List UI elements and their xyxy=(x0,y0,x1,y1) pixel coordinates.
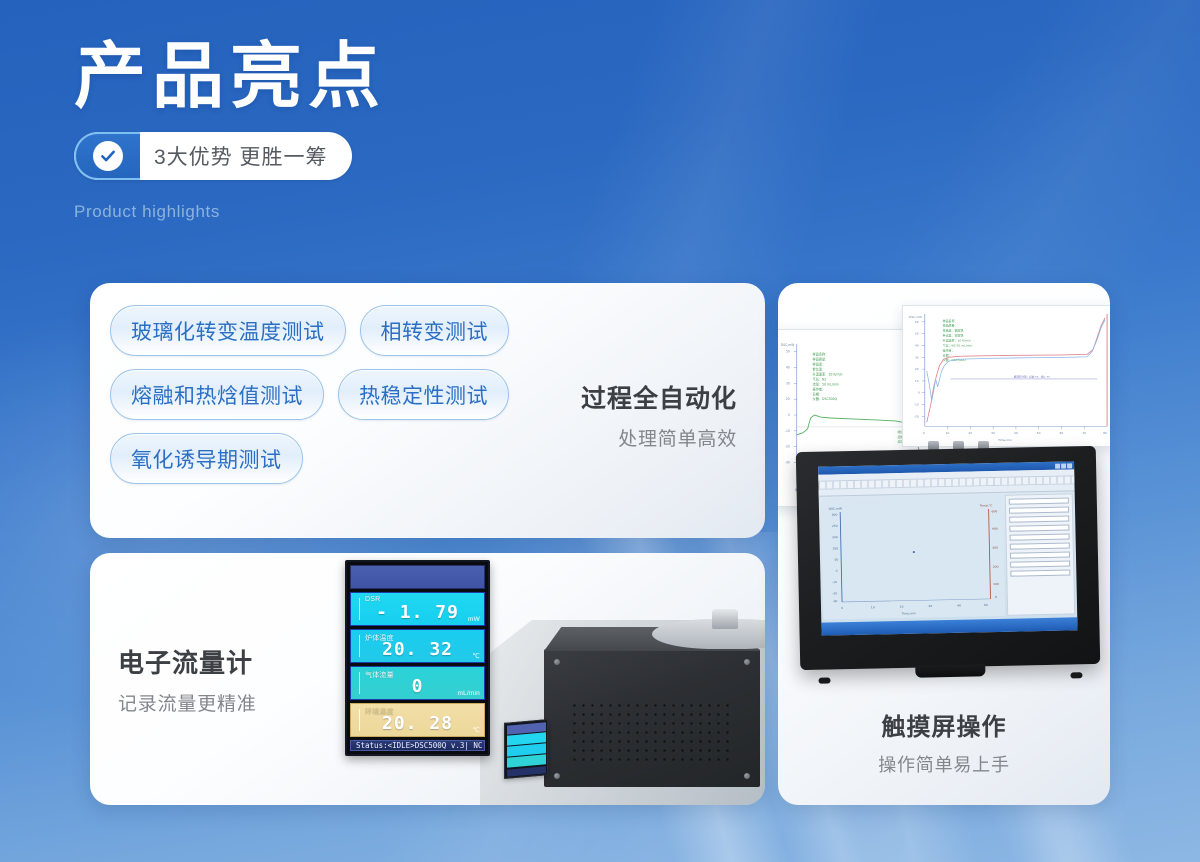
svg-text:100: 100 xyxy=(993,582,999,586)
svg-text:40: 40 xyxy=(1014,431,1018,435)
svg-text:样品名称：: 样品名称： xyxy=(813,352,829,357)
parameter-field[interactable] xyxy=(1009,506,1069,513)
page-subtitle-en: Product highlights xyxy=(74,202,386,222)
feature-tag[interactable]: 热稳定性测试 xyxy=(338,369,509,420)
svg-text:200: 200 xyxy=(832,535,838,539)
parameter-field[interactable] xyxy=(1009,515,1069,522)
flow-caption-sub: 记录流量更精准 xyxy=(118,689,257,716)
svg-text:20: 20 xyxy=(968,431,972,435)
instrument-vent-grid xyxy=(570,701,732,763)
svg-text:40: 40 xyxy=(957,604,961,608)
parameter-field[interactable] xyxy=(1010,542,1070,549)
touch-caption-title: 触摸屏操作 xyxy=(778,707,1110,742)
parameter-field[interactable] xyxy=(1010,533,1070,540)
svg-text:60: 60 xyxy=(915,320,919,324)
close-icon[interactable] xyxy=(1067,463,1072,468)
svg-text:日期：: 日期： xyxy=(813,391,822,396)
svg-text:40: 40 xyxy=(786,366,790,370)
svg-text:DSC,mW: DSC,mW xyxy=(781,343,794,347)
check-circle-icon xyxy=(93,141,123,171)
svg-text:Temp,℃: Temp,℃ xyxy=(979,503,993,507)
parameter-field[interactable] xyxy=(1010,551,1070,558)
svg-text:0: 0 xyxy=(836,569,838,573)
parameter-field[interactable] xyxy=(1010,569,1070,576)
svg-text:30: 30 xyxy=(915,355,919,359)
svg-text:Time,min: Time,min xyxy=(997,438,1012,442)
svg-text:-30: -30 xyxy=(832,599,837,603)
feature-tag-row: 玻璃化转变温度测试 相转变测试 xyxy=(110,305,562,356)
svg-text:20: 20 xyxy=(915,367,919,371)
monitor-foot xyxy=(1070,672,1082,678)
lcd-label: 炉体温度 xyxy=(365,633,394,643)
lcd-unit: mL/min xyxy=(457,690,480,697)
monitor-screen[interactable]: DSC,mW 300250200 150500 -10-20-30 01020 … xyxy=(818,461,1077,635)
instrument-front-display xyxy=(504,719,548,779)
svg-text:0: 0 xyxy=(788,413,790,417)
svg-text:50: 50 xyxy=(915,332,919,336)
flow-meter-lcd: DSR - 1. 79 mW 炉体温度 20. 32 ℃ 气体流量 0 mL/m… xyxy=(345,560,490,756)
svg-text:参比皿：空坩埚: 参比皿：空坩埚 xyxy=(943,333,964,338)
flow-caption-title: 电子流量计 xyxy=(118,643,257,680)
features-caption-sub: 处理简单高效 xyxy=(581,424,737,451)
lcd-value: - 1. 79 xyxy=(355,602,480,623)
svg-text:DSC,mW: DSC,mW xyxy=(829,507,843,511)
svg-text:气氛：N2 50 mL/min: 气氛：N2 50 mL/min xyxy=(943,342,973,347)
svg-text:0: 0 xyxy=(918,391,920,395)
lcd-tick xyxy=(359,635,360,657)
svg-text:参比皿：: 参比皿： xyxy=(813,367,826,372)
svg-text:10: 10 xyxy=(871,605,875,609)
feature-tag-row: 氧化诱导期测试 xyxy=(110,433,562,484)
dsc-curve-screenshot-right: DSC,mW 605040 302010 0-10-20 01020 30405… xyxy=(902,305,1110,447)
lcd-status-bar: Status:<IDLE>DSC500Q v.3| NC xyxy=(350,740,485,751)
svg-text:30: 30 xyxy=(928,604,932,608)
svg-text:150: 150 xyxy=(832,546,838,550)
features-card: 玻璃化转变温度测试 相转变测试 熔融和热焓值测试 热稳定性测试 氧化诱导期测试 … xyxy=(90,283,765,538)
svg-text:-30: -30 xyxy=(785,460,790,464)
svg-text:DSC,mW: DSC,mW xyxy=(909,315,922,319)
svg-text:50: 50 xyxy=(834,558,838,562)
svg-text:80: 80 xyxy=(1103,431,1107,435)
svg-text:-20: -20 xyxy=(785,445,790,449)
svg-text:30: 30 xyxy=(786,381,790,385)
instrument-screw xyxy=(744,659,750,665)
svg-text:0: 0 xyxy=(995,595,997,599)
svg-text:样品质量：: 样品质量： xyxy=(813,357,829,362)
feature-tag[interactable]: 玻璃化转变温度测试 xyxy=(110,305,346,356)
svg-text:40: 40 xyxy=(915,343,919,347)
page-header: 产品亮点 3大优势 更胜一筹 Product highlights xyxy=(74,40,386,222)
lcd-tick xyxy=(359,709,360,731)
instrument-knob xyxy=(712,609,738,629)
features-caption-title: 过程全自动化 xyxy=(581,379,737,415)
instrument-screw xyxy=(554,773,560,779)
svg-text:0: 0 xyxy=(923,431,925,435)
lcd-row-furnace-temp: 炉体温度 20. 32 ℃ xyxy=(350,629,485,663)
lcd-label: 气体流量 xyxy=(365,670,394,680)
svg-text:300: 300 xyxy=(832,513,838,517)
svg-text:样品皿：: 样品皿： xyxy=(813,362,826,367)
svg-text:250: 250 xyxy=(832,524,838,528)
svg-text:-20: -20 xyxy=(914,414,919,418)
minimize-icon[interactable] xyxy=(1055,463,1060,468)
svg-text:操作者：: 操作者： xyxy=(813,386,826,391)
svg-text:20: 20 xyxy=(900,605,904,609)
svg-text:仪器：DSC500Q: 仪器：DSC500Q xyxy=(813,397,838,401)
lcd-unit: mW xyxy=(468,616,480,623)
lcd-row-dsr: DSR - 1. 79 mW xyxy=(350,592,485,626)
maximize-icon[interactable] xyxy=(1061,463,1066,468)
lcd-row-ambient-temp: 环境温度 20. 28 ℃ xyxy=(350,703,485,737)
svg-text:升温速率：10 K/min: 升温速率：10 K/min xyxy=(813,371,843,376)
lcd-unit: ℃ xyxy=(473,652,481,660)
svg-text:操作者：: 操作者： xyxy=(943,347,955,352)
touch-caption: 触摸屏操作 操作简单易上手 xyxy=(778,707,1110,777)
flow-meter-card: 电子流量计 记录流量更精准 DSR - 1. 79 mW xyxy=(90,553,765,805)
feature-tag[interactable]: 氧化诱导期测试 xyxy=(110,433,303,484)
svg-text:10: 10 xyxy=(915,379,919,383)
svg-text:Time,min: Time,min xyxy=(901,611,916,615)
svg-text:50: 50 xyxy=(786,350,790,354)
feature-tag[interactable]: 相转变测试 xyxy=(360,305,510,356)
feature-tag[interactable]: 熔融和热焓值测试 xyxy=(110,369,324,420)
lcd-header xyxy=(350,565,485,589)
flow-caption: 电子流量计 记录流量更精准 xyxy=(118,643,257,716)
mini-display-status xyxy=(507,766,546,776)
lcd-tick xyxy=(359,672,360,694)
lcd-unit: ℃ xyxy=(473,726,481,734)
lcd-row-gas-flow: 气体流量 0 mL/min xyxy=(350,666,485,700)
software-plot-area: DSC,mW 300250200 150500 -10-20-30 01020 … xyxy=(821,495,1005,620)
svg-text:0: 0 xyxy=(841,606,843,610)
svg-text:-10: -10 xyxy=(832,580,837,584)
svg-text:30: 30 xyxy=(991,431,995,435)
svg-text:样品皿：铝坩埚: 样品皿：铝坩埚 xyxy=(943,328,964,333)
monitor-stand xyxy=(915,664,985,677)
touchscreen-card: DSC,mW 5040 3020 0-10 -20-30 03060 样品名称：… xyxy=(778,283,1110,805)
svg-text:流量：50 mL/min: 流量：50 mL/min xyxy=(813,381,839,386)
lcd-label: 环境温度 xyxy=(365,707,394,717)
svg-text:60: 60 xyxy=(1060,431,1064,435)
parameter-field[interactable] xyxy=(1009,524,1069,531)
svg-text:样品名称：: 样品名称： xyxy=(943,318,958,323)
svg-text:样品质量：: 样品质量： xyxy=(943,323,958,328)
parameter-field[interactable] xyxy=(1009,497,1069,504)
svg-text:峰面积计算：起始 xx，终止 xx: 峰面积计算：起始 xx，终止 xx xyxy=(1014,374,1050,378)
svg-text:60: 60 xyxy=(984,603,988,607)
svg-text:50: 50 xyxy=(1037,431,1041,435)
svg-text:300: 300 xyxy=(992,546,998,550)
svg-text:200: 200 xyxy=(993,565,999,569)
badge-label: 3大优势 更胜一筹 xyxy=(140,132,352,180)
svg-text:气氛：N2: 气氛：N2 xyxy=(813,376,827,381)
dsc-instrument-photo xyxy=(468,590,765,805)
monitor-foot xyxy=(818,677,830,683)
parameter-field[interactable] xyxy=(1010,560,1070,567)
instrument-screw xyxy=(554,659,560,665)
svg-text:日期：: 日期： xyxy=(943,352,952,357)
features-caption: 过程全自动化 处理简单高效 xyxy=(581,379,737,451)
svg-text:10: 10 xyxy=(946,431,950,435)
svg-text:70: 70 xyxy=(1082,431,1086,435)
svg-text:20: 20 xyxy=(786,397,790,401)
svg-text:600: 600 xyxy=(991,509,997,513)
badge-icon-container xyxy=(74,132,140,180)
svg-text:400: 400 xyxy=(992,527,998,531)
software-parameter-panel[interactable] xyxy=(1005,493,1076,615)
touch-caption-sub: 操作简单易上手 xyxy=(778,751,1110,777)
lcd-tick xyxy=(359,598,360,620)
page-title: 产品亮点 xyxy=(74,40,386,112)
svg-text:-20: -20 xyxy=(832,591,837,595)
lcd-label: DSR xyxy=(365,596,380,603)
instrument-lid xyxy=(652,619,765,649)
advantage-badge: 3大优势 更胜一筹 xyxy=(74,132,352,180)
svg-text:-10: -10 xyxy=(914,403,919,407)
svg-text:-10: -10 xyxy=(785,429,790,433)
instrument-screw xyxy=(744,773,750,779)
feature-tag-row: 熔融和热焓值测试 热稳定性测试 xyxy=(110,369,562,420)
svg-text:升温速率：10 K/min: 升温速率：10 K/min xyxy=(943,338,971,343)
instrument-body xyxy=(544,649,760,787)
feature-tag-list: 玻璃化转变温度测试 相转变测试 熔融和热焓值测试 热稳定性测试 氧化诱导期测试 xyxy=(110,305,562,497)
touchscreen-monitor: DSC,mW 300250200 150500 -10-20-30 01020 … xyxy=(796,446,1100,670)
